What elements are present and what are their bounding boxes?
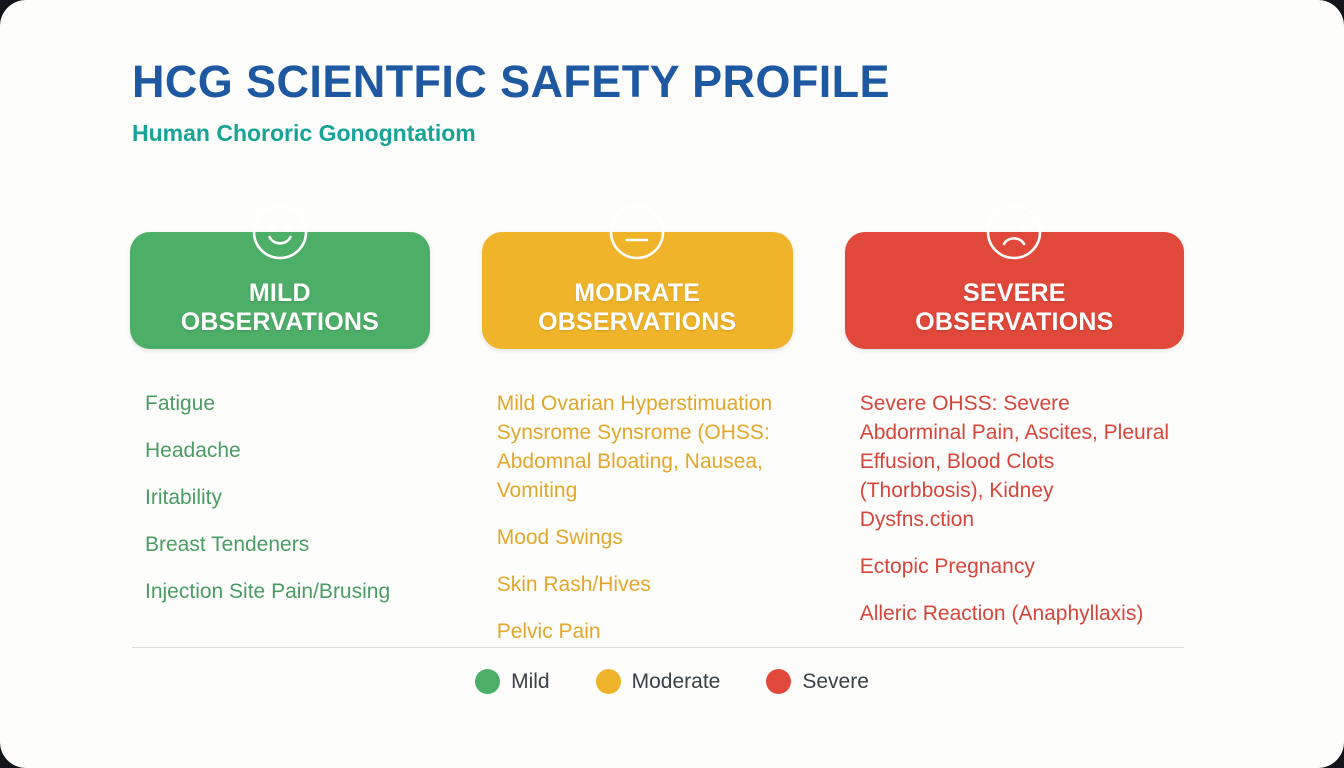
card-label-line2: OBSERVATIONS <box>538 308 736 336</box>
page-subtitle: Human Chororic Gonogntatiom <box>132 121 1192 146</box>
sad-face-icon <box>985 203 1043 261</box>
list-item: Pelvic Pain <box>497 618 793 647</box>
divider <box>132 647 1184 648</box>
page-title: HCG SCIENTFIC SAFETY PROFILE <box>132 58 1192 107</box>
list-item: Injection Site Pain/Brusing <box>145 578 430 607</box>
card-label-moderate: MODRATE OBSERVATIONS <box>538 279 736 337</box>
legend-item-severe: Severe <box>766 669 869 694</box>
card-mild[interactable]: MILD OBSERVATIONS <box>130 232 430 349</box>
legend-item-mild: Mild <box>475 669 550 694</box>
card-label-mild: MILD OBSERVATIONS <box>181 279 379 337</box>
legend-label: Severe <box>802 670 869 694</box>
list-severe: Severe OHSS: Severe Abdorminal Pain, Asc… <box>845 390 1184 629</box>
legend-dot-severe <box>766 669 791 694</box>
card-label-severe: SEVERE OBSERVATIONS <box>915 279 1113 337</box>
list-item: Headache <box>145 437 430 466</box>
list-moderate: Mild Ovarian Hyperstimuation Synsrome Sy… <box>482 390 793 647</box>
card-label-line1: MILD <box>249 279 311 307</box>
legend-label: Moderate <box>632 670 721 694</box>
legend-dot-mild <box>475 669 500 694</box>
card-label-line2: OBSERVATIONS <box>915 308 1113 336</box>
list-item: Fatigue <box>145 390 430 419</box>
card-label-line1: MODRATE <box>574 279 700 307</box>
list-item: Severe OHSS: Severe Abdorminal Pain, Asc… <box>860 390 1170 535</box>
card-label-line1: SEVERE <box>963 279 1066 307</box>
severity-columns: MILD OBSERVATIONS Fatigue Headache Irita… <box>130 232 1184 647</box>
list-item: Mood Swings <box>497 524 793 553</box>
list-item: Breast Tendeners <box>145 531 430 560</box>
list-item: Alleric Reaction (Anaphyllaxis) <box>860 600 1170 629</box>
neutral-face-icon <box>608 203 666 261</box>
legend-dot-moderate <box>596 669 621 694</box>
card-severe[interactable]: SEVERE OBSERVATIONS <box>845 232 1184 349</box>
header: HCG SCIENTFIC SAFETY PROFILE Human Choro… <box>132 58 1192 146</box>
card-moderate[interactable]: MODRATE OBSERVATIONS <box>482 232 793 349</box>
list-mild: Fatigue Headache Iritability Breast Tend… <box>130 390 430 607</box>
legend: Mild Moderate Severe <box>0 669 1344 694</box>
smiley-face-icon <box>251 203 309 261</box>
list-item: Skin Rash/Hives <box>497 571 793 600</box>
infographic-page: HCG SCIENTFIC SAFETY PROFILE Human Choro… <box>0 0 1344 768</box>
legend-label: Mild <box>511 670 550 694</box>
column-severe: SEVERE OBSERVATIONS Severe OHSS: Severe … <box>845 232 1184 629</box>
list-item: Iritability <box>145 484 430 513</box>
column-moderate: MODRATE OBSERVATIONS Mild Ovarian Hypers… <box>482 232 793 647</box>
column-mild: MILD OBSERVATIONS Fatigue Headache Irita… <box>130 232 430 607</box>
list-item: Mild Ovarian Hyperstimuation Synsrome Sy… <box>497 390 793 506</box>
legend-item-moderate: Moderate <box>596 669 721 694</box>
list-item: Ectopic Pregnancy <box>860 553 1170 582</box>
card-label-line2: OBSERVATIONS <box>181 308 379 336</box>
